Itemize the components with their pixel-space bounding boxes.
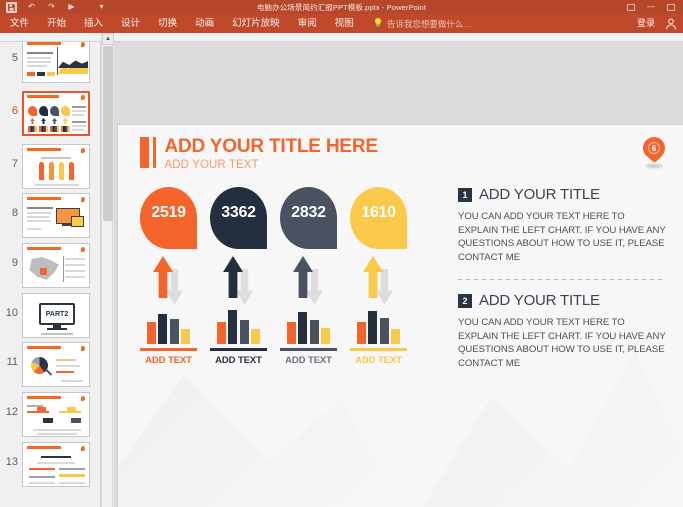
thumbnail-scrollbar[interactable]: ▲ [101,33,113,507]
kpi-value: 2832 [291,204,325,222]
thumbnail-number: 6 [0,91,22,117]
section-title: ADD YOUR TITLE [479,293,600,308]
chart-label: ADD TEXT [350,355,407,366]
pin-shadow [646,164,662,168]
bar-group [140,310,197,344]
bar-series-b [368,311,377,344]
thumbnail-slide-7[interactable]: 7 [0,144,101,195]
trend-arrow-row [140,256,430,306]
thumbnail-slide-6[interactable]: 6 [0,91,101,142]
bar-group [280,310,337,344]
thumbnail-slide-5[interactable]: 5 [0,42,101,89]
chart-label: ADD TEXT [280,355,337,366]
thumbnail-slide-13[interactable]: 13 [0,442,101,493]
thumb-title-bar [27,95,59,98]
thumbnail-preview [22,91,90,136]
thumb-pin-icon [81,95,85,100]
arrow-down-icon [376,269,393,305]
sign-in-button[interactable]: 登录 [637,14,655,33]
thumbnail-slide-11[interactable]: 11 [0,342,101,393]
trend-arrow-cell-4 [350,256,407,306]
powerpoint-window: ↶ ↷ ▶ ▾ 电脑办公场景简约汇报PPT模板.pptx - PowerPoin… [0,0,683,507]
thumbnail-number: 13 [0,442,22,468]
thumb-pin-icon [81,42,85,47]
page-subtitle: ADD YOUR TEXT [165,158,378,172]
thumbnail-number: 10 [0,293,22,319]
kpi-value: 2519 [151,204,185,222]
minimize-button[interactable]: — [647,3,655,11]
bar-series-c [310,320,319,344]
arrow-down-icon [166,269,183,305]
section-body-text: YOU CAN ADD YOUR TEXT HERE TO EXPLAIN TH… [458,316,666,370]
text-content-column: 1 ADD YOUR TITLE YOU CAN ADD YOUR TEXT H… [458,187,666,370]
bar-series-d [391,329,400,344]
thumbnail-number: 7 [0,144,22,170]
tab-slideshow[interactable]: 幻灯片放映 [223,14,289,33]
bar-chart-group-4: ADD TEXT [350,310,407,366]
thumbnail-number: 5 [0,42,22,64]
thumb-title-bar [27,148,61,151]
section-heading: 1 ADD YOUR TITLE [458,187,666,202]
thumb-title-bar [27,197,61,200]
bar-series-a [357,322,366,344]
chart-label: ADD TEXT [210,355,267,366]
thumb-title-bar [27,396,61,399]
title-text-group: ADD YOUR TITLE HERE ADD YOUR TEXT [165,137,378,172]
thumbnail-slide-10[interactable]: 10 PART2 [0,293,101,344]
bar-series-a [147,322,156,344]
chart-underline [210,348,267,351]
bar-series-c [240,320,249,344]
restore-button[interactable] [667,4,675,11]
thumb-pin-icon [81,197,85,202]
kpi-balloon-4: 1610 [350,187,407,249]
tell-me-placeholder: 告诉我您想要做什么… [387,18,472,30]
bar-series-b [228,310,237,344]
kpi-balloon-1: 2519 [140,187,197,249]
thumb-title-bar [27,346,61,349]
thumbnail-preview [22,42,90,83]
thumbnail-number: 11 [0,342,22,368]
kpi-balloon-row: 2519 3362 2832 1610 [140,187,430,249]
tab-design[interactable]: 设计 [112,14,149,33]
bar-series-a [217,322,226,344]
tab-file[interactable]: 文件 [0,14,38,33]
section-heading: 2 ADD YOUR TITLE [458,293,666,308]
bar-chart-group-3: ADD TEXT [280,310,337,366]
bar-series-d [181,329,190,344]
scrollbar-thumb[interactable] [103,46,113,221]
scroll-up-icon: ▲ [105,36,111,42]
title-accent-bar-thick [140,137,149,168]
thumbnail-slide-12[interactable]: 12 [0,392,101,443]
thumbnail-number: 9 [0,243,22,269]
thumbnail-slide-9[interactable]: 9 [0,243,101,294]
thumbnail-slide-8[interactable]: 8 [0,193,101,244]
bar-series-a [287,322,296,344]
bar-series-d [251,329,260,344]
page-number-label: 6 [648,142,660,154]
lightbulb-icon: 💡 [373,18,384,29]
slide-title-block[interactable]: ADD YOUR TITLE HERE ADD YOUR TEXT [140,137,378,172]
window-controls: — [627,0,681,14]
thumb-pin-icon [81,247,85,252]
bar-chart-group-1: ADD TEXT [140,310,197,366]
document-title: 电脑办公场景简约汇报PPT模板.pptx - PowerPoint [0,2,683,13]
section-number-badge: 1 [458,188,472,202]
trend-arrow-cell-3 [280,256,337,306]
tab-view[interactable]: 视图 [326,14,363,33]
content-section-1: 1 ADD YOUR TITLE YOU CAN ADD YOUR TEXT H… [458,187,666,264]
thumbnail-preview [22,442,90,487]
chart-underline [140,348,197,351]
thumb-title-bar [27,446,61,449]
slide-editor[interactable]: ADD YOUR TITLE HERE ADD YOUR TEXT 6 2519 [118,125,683,507]
section-divider [458,279,666,280]
infographic-chart: 2519 3362 2832 1610 [140,187,430,366]
kpi-value: 1610 [361,204,395,222]
title-accent-bar-thin [153,137,156,168]
kpi-balloon-2: 3362 [210,187,267,249]
thumb-pin-icon [81,148,85,153]
bar-chart-group-2: ADD TEXT [210,310,267,366]
thumbnail-preview [22,342,90,387]
chart-underline [350,348,407,351]
thumbnail-preview [22,243,90,288]
bar-group [210,310,267,344]
content-section-2: 2 ADD YOUR TITLE YOU CAN ADD YOUR TEXT H… [458,293,666,370]
editing-canvas[interactable]: ADD YOUR TITLE HERE ADD YOUR TEXT 6 2519 [114,42,683,507]
tab-insert[interactable]: 插入 [75,14,112,33]
tab-review[interactable]: 审阅 [289,14,326,33]
section-number-badge: 2 [458,294,472,308]
tab-home[interactable]: 开始 [38,14,75,33]
tell-me-search[interactable]: 💡 告诉我您想要做什么… [373,18,472,30]
bar-series-d [321,328,330,344]
bar-series-b [158,314,167,344]
bar-group [350,310,407,344]
page-number-pin: 6 [643,137,665,167]
ribbon-tab-strip: 文件 开始 插入 设计 切换 动画 幻灯片放映 审阅 视图 💡 告诉我您想要做什… [0,14,683,33]
account-icon[interactable] [664,17,678,31]
bar-series-c [170,319,179,344]
thumb-pin-icon [81,346,85,351]
thumbnail-preview: PART2 [22,293,90,338]
chart-underline [280,348,337,351]
slide-thumbnail-pane[interactable]: 5 6 [0,42,101,507]
trend-arrow-cell-1 [140,256,197,306]
chart-label: ADD TEXT [140,355,197,366]
thumbnail-number: 12 [0,392,22,418]
thumbnail-preview [22,193,90,238]
kpi-balloon-3: 2832 [280,187,337,249]
bar-chart-row: ADD TEXT ADD TEXT [140,310,430,366]
section-title: ADD YOUR TITLE [479,187,600,202]
arrow-down-icon [306,269,323,305]
thumb-title-bar [27,247,61,250]
thumbnail-preview [22,144,90,189]
tab-animations[interactable]: 动画 [186,14,223,33]
arrow-down-icon [236,269,253,305]
scroll-up-button[interactable]: ▲ [102,33,114,45]
title-bar: ↶ ↷ ▶ ▾ 电脑办公场景简约汇报PPT模板.pptx - PowerPoin… [0,0,683,14]
trend-arrow-cell-2 [210,256,267,306]
thumbnail-preview [22,392,90,437]
bar-series-c [380,318,389,344]
thumb-title-bar [27,42,61,45]
thumbnail-number: 8 [0,193,22,219]
kpi-value: 3362 [221,204,255,222]
thumb-pin-icon [81,396,85,401]
ribbon-display-options-icon[interactable] [627,4,635,11]
thumb-pin-icon [81,446,85,451]
tab-transitions[interactable]: 切换 [149,14,186,33]
section-body-text: YOU CAN ADD YOUR TEXT HERE TO EXPLAIN TH… [458,210,666,264]
bar-series-b [298,312,307,344]
page-title: ADD YOUR TITLE HERE [165,137,378,156]
